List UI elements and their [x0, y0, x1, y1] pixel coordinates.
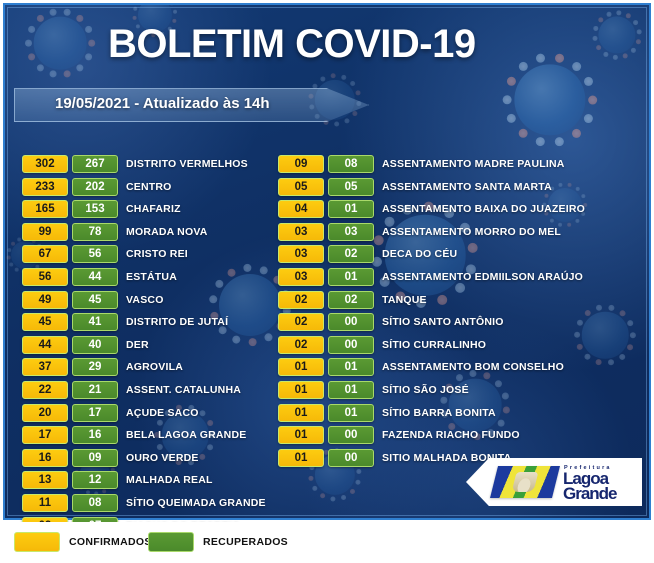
recovered-badge: 01 [328, 268, 374, 286]
recovered-badge: 00 [328, 426, 374, 444]
table-row: 0301ASSENTAMENTO EDMIILSON ARAÚJO [278, 268, 638, 291]
table-row: 0302DECA DO CÉU [278, 245, 638, 268]
legend-label-confirmed: CONFIRMADOS [69, 536, 152, 548]
recovered-badge: 41 [72, 313, 118, 331]
confirmed-badge: 49 [22, 291, 68, 309]
crest-icon [512, 472, 539, 492]
recovered-badge: 01 [328, 381, 374, 399]
confirmed-badge: 03 [278, 223, 324, 241]
table-row: 302267DISTRITO VERMELHOS [22, 155, 272, 178]
table-row: 0101SÍTIO BARRA BONITA [278, 404, 638, 427]
location-label: SÍTIO BARRA BONITA [382, 404, 496, 422]
location-label: SÍTIO SANTO ANTÔNIO [382, 313, 504, 331]
location-label: ESTÁTUA [126, 268, 177, 286]
confirmed-badge: 01 [278, 358, 324, 376]
table-row: 1716BELA LAGOA GRANDE [22, 426, 272, 449]
recovered-badge: 78 [72, 223, 118, 241]
data-column-left: 302267DISTRITO VERMELHOS233202CENTRO1651… [22, 155, 272, 539]
confirmed-badge: 165 [22, 200, 68, 218]
location-label: SÍTIO SÃO JOSÉ [382, 381, 469, 399]
covid-bulletin-poster: BOLETIM COVID-19 19/05/2021 - Atualizado… [0, 0, 654, 563]
legend-swatch-confirmed [14, 532, 60, 552]
confirmed-badge: 16 [22, 449, 68, 467]
location-label: DISTRITO VERMELHOS [126, 155, 248, 173]
recovered-badge: 00 [328, 336, 374, 354]
location-label: ASSENTAMENTO BAIXA DO JUAZEIRO [382, 200, 585, 218]
location-label: VASCO [126, 291, 164, 309]
table-row: 9978MORADA NOVA [22, 223, 272, 246]
recovered-badge: 40 [72, 336, 118, 354]
confirmed-badge: 45 [22, 313, 68, 331]
confirmed-badge: 01 [278, 426, 324, 444]
recovered-badge: 03 [328, 223, 374, 241]
recovered-badge: 45 [72, 291, 118, 309]
table-row: 1609OURO VERDE [22, 449, 272, 472]
confirmed-badge: 22 [22, 381, 68, 399]
table-row: 233202CENTRO [22, 178, 272, 201]
legend-confirmed: CONFIRMADOS [14, 532, 152, 552]
confirmed-badge: 01 [278, 381, 324, 399]
confirmed-badge: 01 [278, 404, 324, 422]
location-label: CRISTO REI [126, 245, 188, 263]
date-updated-text: 19/05/2021 - Atualizado às 14h [55, 95, 270, 112]
legend-swatch-recovered [148, 532, 194, 552]
table-row: 5644ESTÁTUA [22, 268, 272, 291]
location-label: MALHADA REAL [126, 471, 213, 489]
location-label: DECA DO CÉU [382, 245, 457, 263]
location-label: ASSENTAMENTO EDMIILSON ARAÚJO [382, 268, 583, 286]
legend-bar: CONFIRMADOS RECUPERADOS [0, 522, 654, 563]
confirmed-badge: 20 [22, 404, 68, 422]
location-label: CENTRO [126, 178, 172, 196]
table-row: 0505ASSENTAMENTO SANTA MARTA [278, 178, 638, 201]
confirmed-badge: 03 [278, 245, 324, 263]
confirmed-badge: 17 [22, 426, 68, 444]
table-row: 0101ASSENTAMENTO BOM CONSELHO [278, 358, 638, 381]
confirmed-badge: 04 [278, 200, 324, 218]
recovered-badge: 17 [72, 404, 118, 422]
location-label: BELA LAGOA GRANDE [126, 426, 246, 444]
location-label: ASSENTAMENTO MORRO DO MEL [382, 223, 561, 241]
recovered-badge: 00 [328, 449, 374, 467]
location-label: DISTRITO DE JUTAÍ [126, 313, 228, 331]
table-row: 0101SÍTIO SÃO JOSÉ [278, 381, 638, 404]
confirmed-badge: 233 [22, 178, 68, 196]
recovered-badge: 08 [72, 494, 118, 512]
table-row: 1108SÍTIO QUEIMADA GRANDE [22, 494, 272, 517]
location-label: AÇUDE SACO [126, 404, 199, 422]
table-row: 6756CRISTO REI [22, 245, 272, 268]
recovered-badge: 202 [72, 178, 118, 196]
recovered-badge: 09 [72, 449, 118, 467]
location-label: MORADA NOVA [126, 223, 208, 241]
confirmed-badge: 37 [22, 358, 68, 376]
confirmed-badge: 09 [278, 155, 324, 173]
table-row: 1312MALHADA REAL [22, 471, 272, 494]
recovered-badge: 01 [328, 404, 374, 422]
recovered-badge: 44 [72, 268, 118, 286]
location-label: AGROVILA [126, 358, 183, 376]
recovered-badge: 29 [72, 358, 118, 376]
confirmed-badge: 05 [278, 178, 324, 196]
table-row: 4945VASCO [22, 291, 272, 314]
recovered-badge: 02 [328, 245, 374, 263]
location-label: ASSENT. CATALUNHA [126, 381, 241, 399]
location-label: OURO VERDE [126, 449, 199, 467]
recovered-badge: 00 [328, 313, 374, 331]
virus-particle-icon [16, 3, 104, 87]
recovered-badge: 05 [328, 178, 374, 196]
recovered-badge: 153 [72, 200, 118, 218]
location-label: ASSENTAMENTO BOM CONSELHO [382, 358, 564, 376]
location-label: SÍTIO CURRALINHO [382, 336, 486, 354]
table-row: 0908ASSENTAMENTO MADRE PAULINA [278, 155, 638, 178]
recovered-badge: 12 [72, 471, 118, 489]
virus-particle-icon [490, 40, 610, 160]
legend-recovered: RECUPERADOS [148, 532, 288, 552]
confirmed-badge: 01 [278, 449, 324, 467]
table-row: 3729AGROVILA [22, 358, 272, 381]
recovered-badge: 02 [328, 291, 374, 309]
legend-label-recovered: RECUPERADOS [203, 536, 288, 548]
location-label: DER [126, 336, 149, 354]
location-label: TANQUE [382, 291, 427, 309]
city-hall-logo: Prefeitura Lagoa Grande [466, 458, 642, 506]
recovered-badge: 21 [72, 381, 118, 399]
table-row: 0202TANQUE [278, 291, 638, 314]
confirmed-badge: 99 [22, 223, 68, 241]
confirmed-badge: 44 [22, 336, 68, 354]
virus-particle-icon [586, 4, 648, 66]
table-row: 0200SÍTIO SANTO ANTÔNIO [278, 313, 638, 336]
recovered-badge: 267 [72, 155, 118, 173]
location-label: FAZENDA RIACHO FUNDO [382, 426, 520, 444]
confirmed-badge: 67 [22, 245, 68, 263]
recovered-badge: 01 [328, 200, 374, 218]
confirmed-badge: 302 [22, 155, 68, 173]
table-row: 0100FAZENDA RIACHO FUNDO [278, 426, 638, 449]
location-label: SÍTIO QUEIMADA GRANDE [126, 494, 266, 512]
confirmed-badge: 03 [278, 268, 324, 286]
confirmed-badge: 02 [278, 313, 324, 331]
table-row: 4541DISTRITO DE JUTAÍ [22, 313, 272, 336]
location-label: ASSENTAMENTO SANTA MARTA [382, 178, 552, 196]
table-row: 2221ASSENT. CATALUNHA [22, 381, 272, 404]
table-row: 0200SÍTIO CURRALINHO [278, 336, 638, 359]
table-row: 165153CHAFARIZ [22, 200, 272, 223]
recovered-badge: 08 [328, 155, 374, 173]
confirmed-badge: 11 [22, 494, 68, 512]
recovered-badge: 16 [72, 426, 118, 444]
confirmed-badge: 02 [278, 291, 324, 309]
location-label: ASSENTAMENTO MADRE PAULINA [382, 155, 565, 173]
flag-icon [490, 466, 560, 498]
table-row: 0303ASSENTAMENTO MORRO DO MEL [278, 223, 638, 246]
recovered-badge: 01 [328, 358, 374, 376]
table-row: 2017AÇUDE SACO [22, 404, 272, 427]
page-title: BOLETIM COVID-19 [108, 22, 476, 67]
confirmed-badge: 56 [22, 268, 68, 286]
recovered-badge: 56 [72, 245, 118, 263]
confirmed-badge: 02 [278, 336, 324, 354]
location-label: CHAFARIZ [126, 200, 181, 218]
confirmed-badge: 13 [22, 471, 68, 489]
data-column-right: 0908ASSENTAMENTO MADRE PAULINA0505ASSENT… [278, 155, 638, 471]
table-row: 0401ASSENTAMENTO BAIXA DO JUAZEIRO [278, 200, 638, 223]
logo-line-2: Grande [563, 485, 617, 502]
table-row: 4440DER [22, 336, 272, 359]
